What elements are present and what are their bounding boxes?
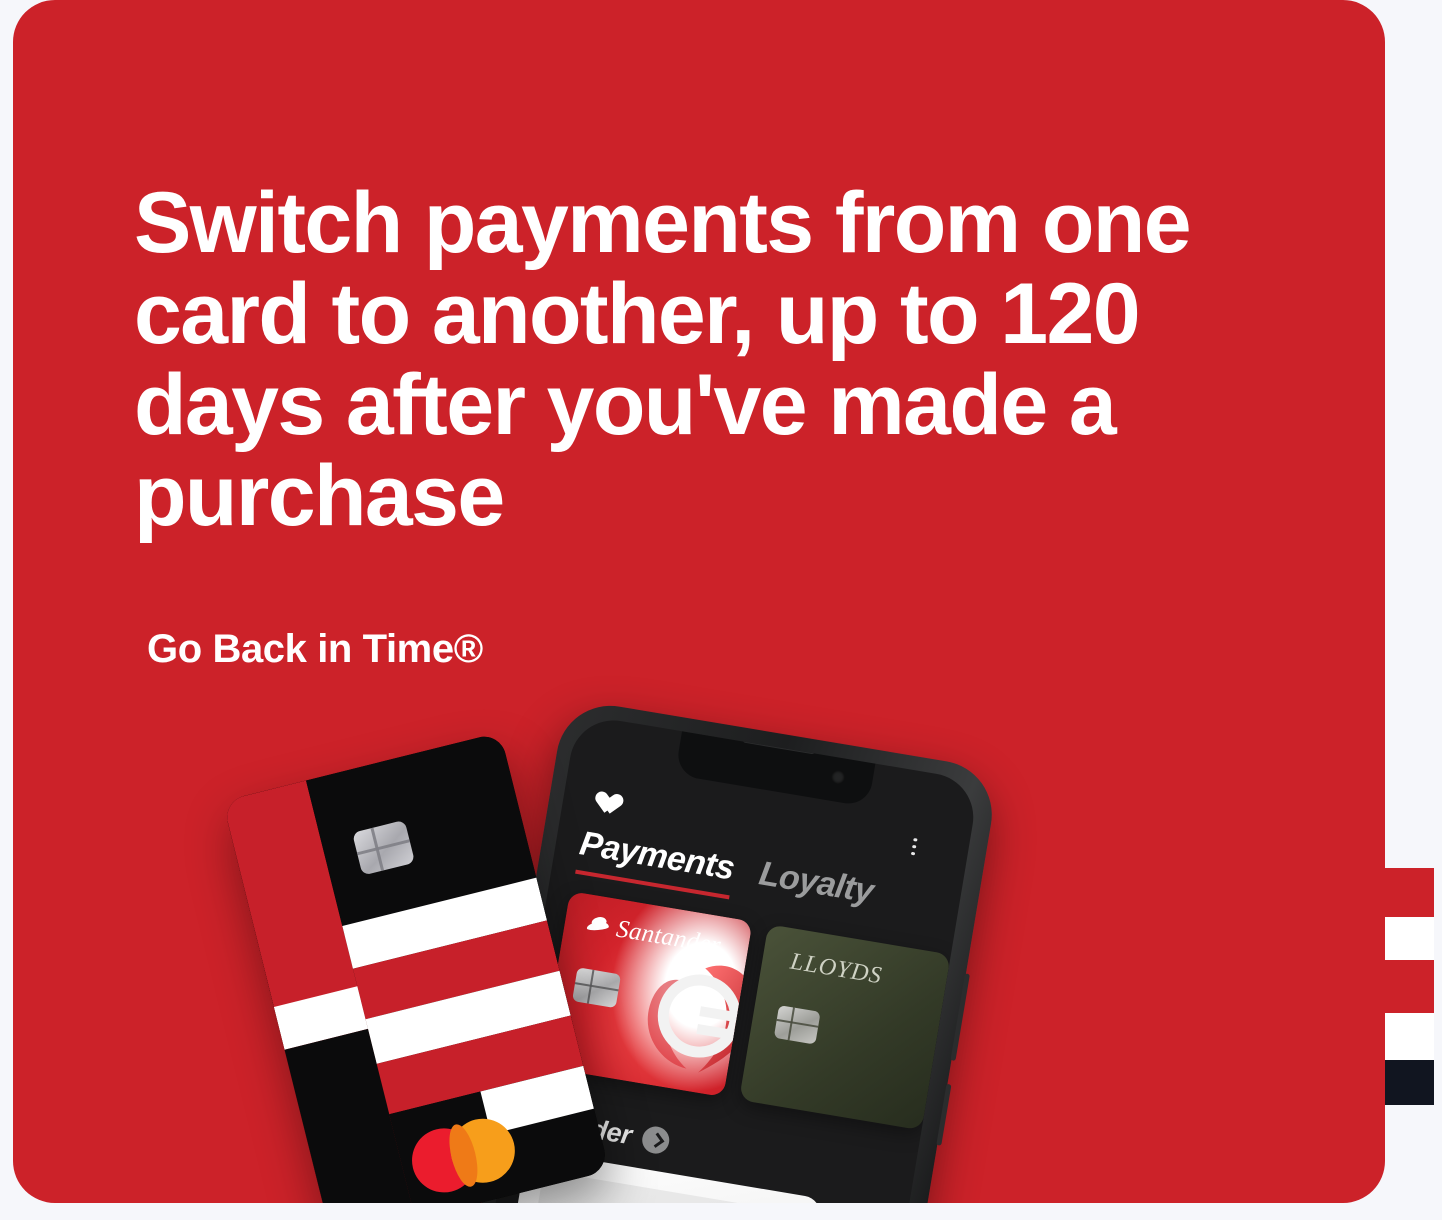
page-title: Switch payments from one card to another… [134,178,1214,543]
tab-payments[interactable]: Payments [575,824,737,899]
card-carousel: Santander [537,891,951,1152]
card-brand-label: LLOYDS [788,949,884,991]
card-lloyds[interactable]: LLOYDS [739,924,951,1130]
edge-peek-card [1385,868,1434,1105]
list-icon[interactable] [910,836,943,863]
emv-chip-icon [774,1005,821,1044]
promo-subheading: Go Back in Time® [147,627,483,672]
santander-flame-icon [585,915,610,936]
card-stripe [1385,917,1434,960]
promo-banner: Switch payments from one card to another… [13,0,1385,1203]
santander-swirl-graphic [626,941,753,1097]
chevron-right-circle-icon[interactable] [640,1124,671,1155]
card-stripe [1385,960,1434,1013]
promo-artwork: Payments Loyalty Santander [263,720,1083,1203]
phone-camera-icon [831,770,846,785]
tab-loyalty[interactable]: Loyalty [754,854,876,922]
emv-chip-icon [572,967,621,1008]
card-stripe [1385,1013,1434,1060]
card-stripe [1385,1060,1434,1105]
card-stripe [1385,868,1434,917]
heart-icon[interactable] [589,781,619,809]
